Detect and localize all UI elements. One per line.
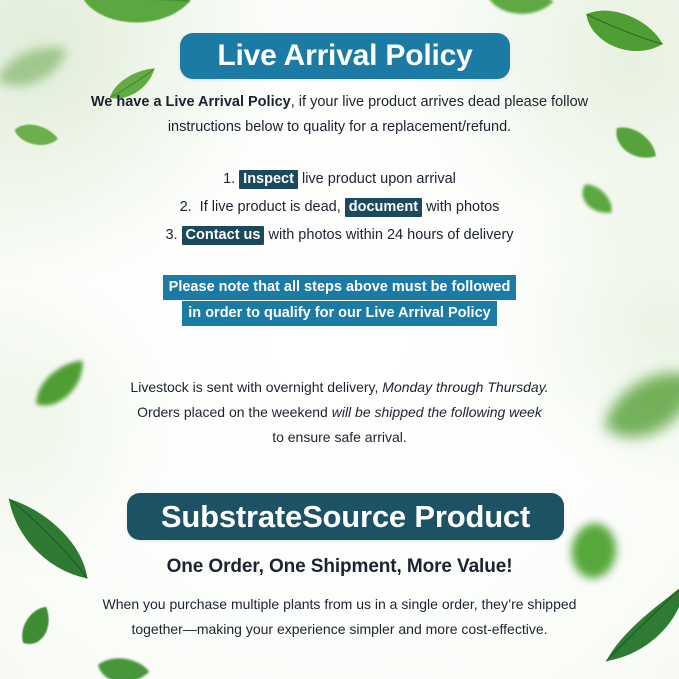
policy-note-callout: Please note that all steps above must be… — [0, 274, 679, 326]
live-arrival-policy-banner: Live Arrival Policy — [180, 33, 510, 79]
step-number: 1. — [223, 171, 235, 187]
step-after-text: with photos — [422, 199, 499, 215]
step-number: 3. — [165, 227, 177, 243]
shipping-line-1-plain: Livestock is sent with overnight deliver… — [130, 379, 382, 395]
shipping-paragraph: Livestock is sent with overnight deliver… — [0, 375, 679, 450]
note-line-2: in order to qualify for our Live Arrival… — [182, 301, 496, 326]
shipping-line-2: Orders placed on the weekend will be shi… — [0, 400, 679, 425]
intro-bold-phrase: We have a Live Arrival Policy — [91, 94, 291, 110]
list-item: 3.Contact us with photos within 24 hours… — [0, 221, 679, 249]
substrate-body-line-1: When you purchase multiple plants from u… — [0, 592, 679, 617]
live-arrival-policy-title: Live Arrival Policy — [217, 39, 472, 73]
steps-list: 1.Inspect live product upon arrival 2. I… — [0, 165, 679, 249]
intro-line-1: We have a Live Arrival Policy, if your l… — [0, 90, 679, 115]
substrate-source-product-title: SubstrateSource Product — [161, 499, 530, 535]
shipping-line-3: to ensure safe arrival. — [0, 425, 679, 450]
intro-line-1-rest: , if your live product arrives dead plea… — [291, 94, 588, 110]
step-after-text: live product upon arrival — [298, 171, 456, 187]
list-item: 2. If live product is dead, document wit… — [0, 193, 679, 221]
note-row: in order to qualify for our Live Arrival… — [0, 300, 679, 326]
substrate-source-product-banner: SubstrateSource Product — [127, 493, 564, 540]
intro-line-2: instructions below to quality for a repl… — [0, 115, 679, 140]
step-highlight-contact-us: Contact us — [182, 226, 265, 245]
note-line-1: Please note that all steps above must be… — [163, 275, 517, 300]
step-highlight-inspect: Inspect — [239, 170, 298, 189]
shipping-line-2-plain: Orders placed on the weekend — [137, 404, 332, 420]
shipping-line-1: Livestock is sent with overnight deliver… — [0, 375, 679, 400]
intro-paragraph: We have a Live Arrival Policy, if your l… — [0, 90, 679, 140]
substrate-body-line-2: together—making your experience simpler … — [0, 617, 679, 642]
note-row: Please note that all steps above must be… — [0, 274, 679, 300]
substrate-subtitle: One Order, One Shipment, More Value! — [0, 556, 679, 578]
list-item: 1.Inspect live product upon arrival — [0, 165, 679, 193]
step-before-text: If live product is dead, — [196, 199, 345, 215]
shipping-line-1-italic: Monday through Thursday. — [382, 379, 548, 395]
step-number: 2. — [180, 199, 192, 215]
substrate-body-paragraph: When you purchase multiple plants from u… — [0, 592, 679, 642]
shipping-line-2-italic: will be shipped the following week — [332, 404, 542, 420]
step-highlight-document: document — [345, 198, 422, 217]
content-layer: Live Arrival Policy We have a Live Arriv… — [0, 0, 679, 679]
step-after-text: with photos within 24 hours of delivery — [264, 227, 513, 243]
policy-infographic: Live Arrival Policy We have a Live Arriv… — [0, 0, 679, 679]
